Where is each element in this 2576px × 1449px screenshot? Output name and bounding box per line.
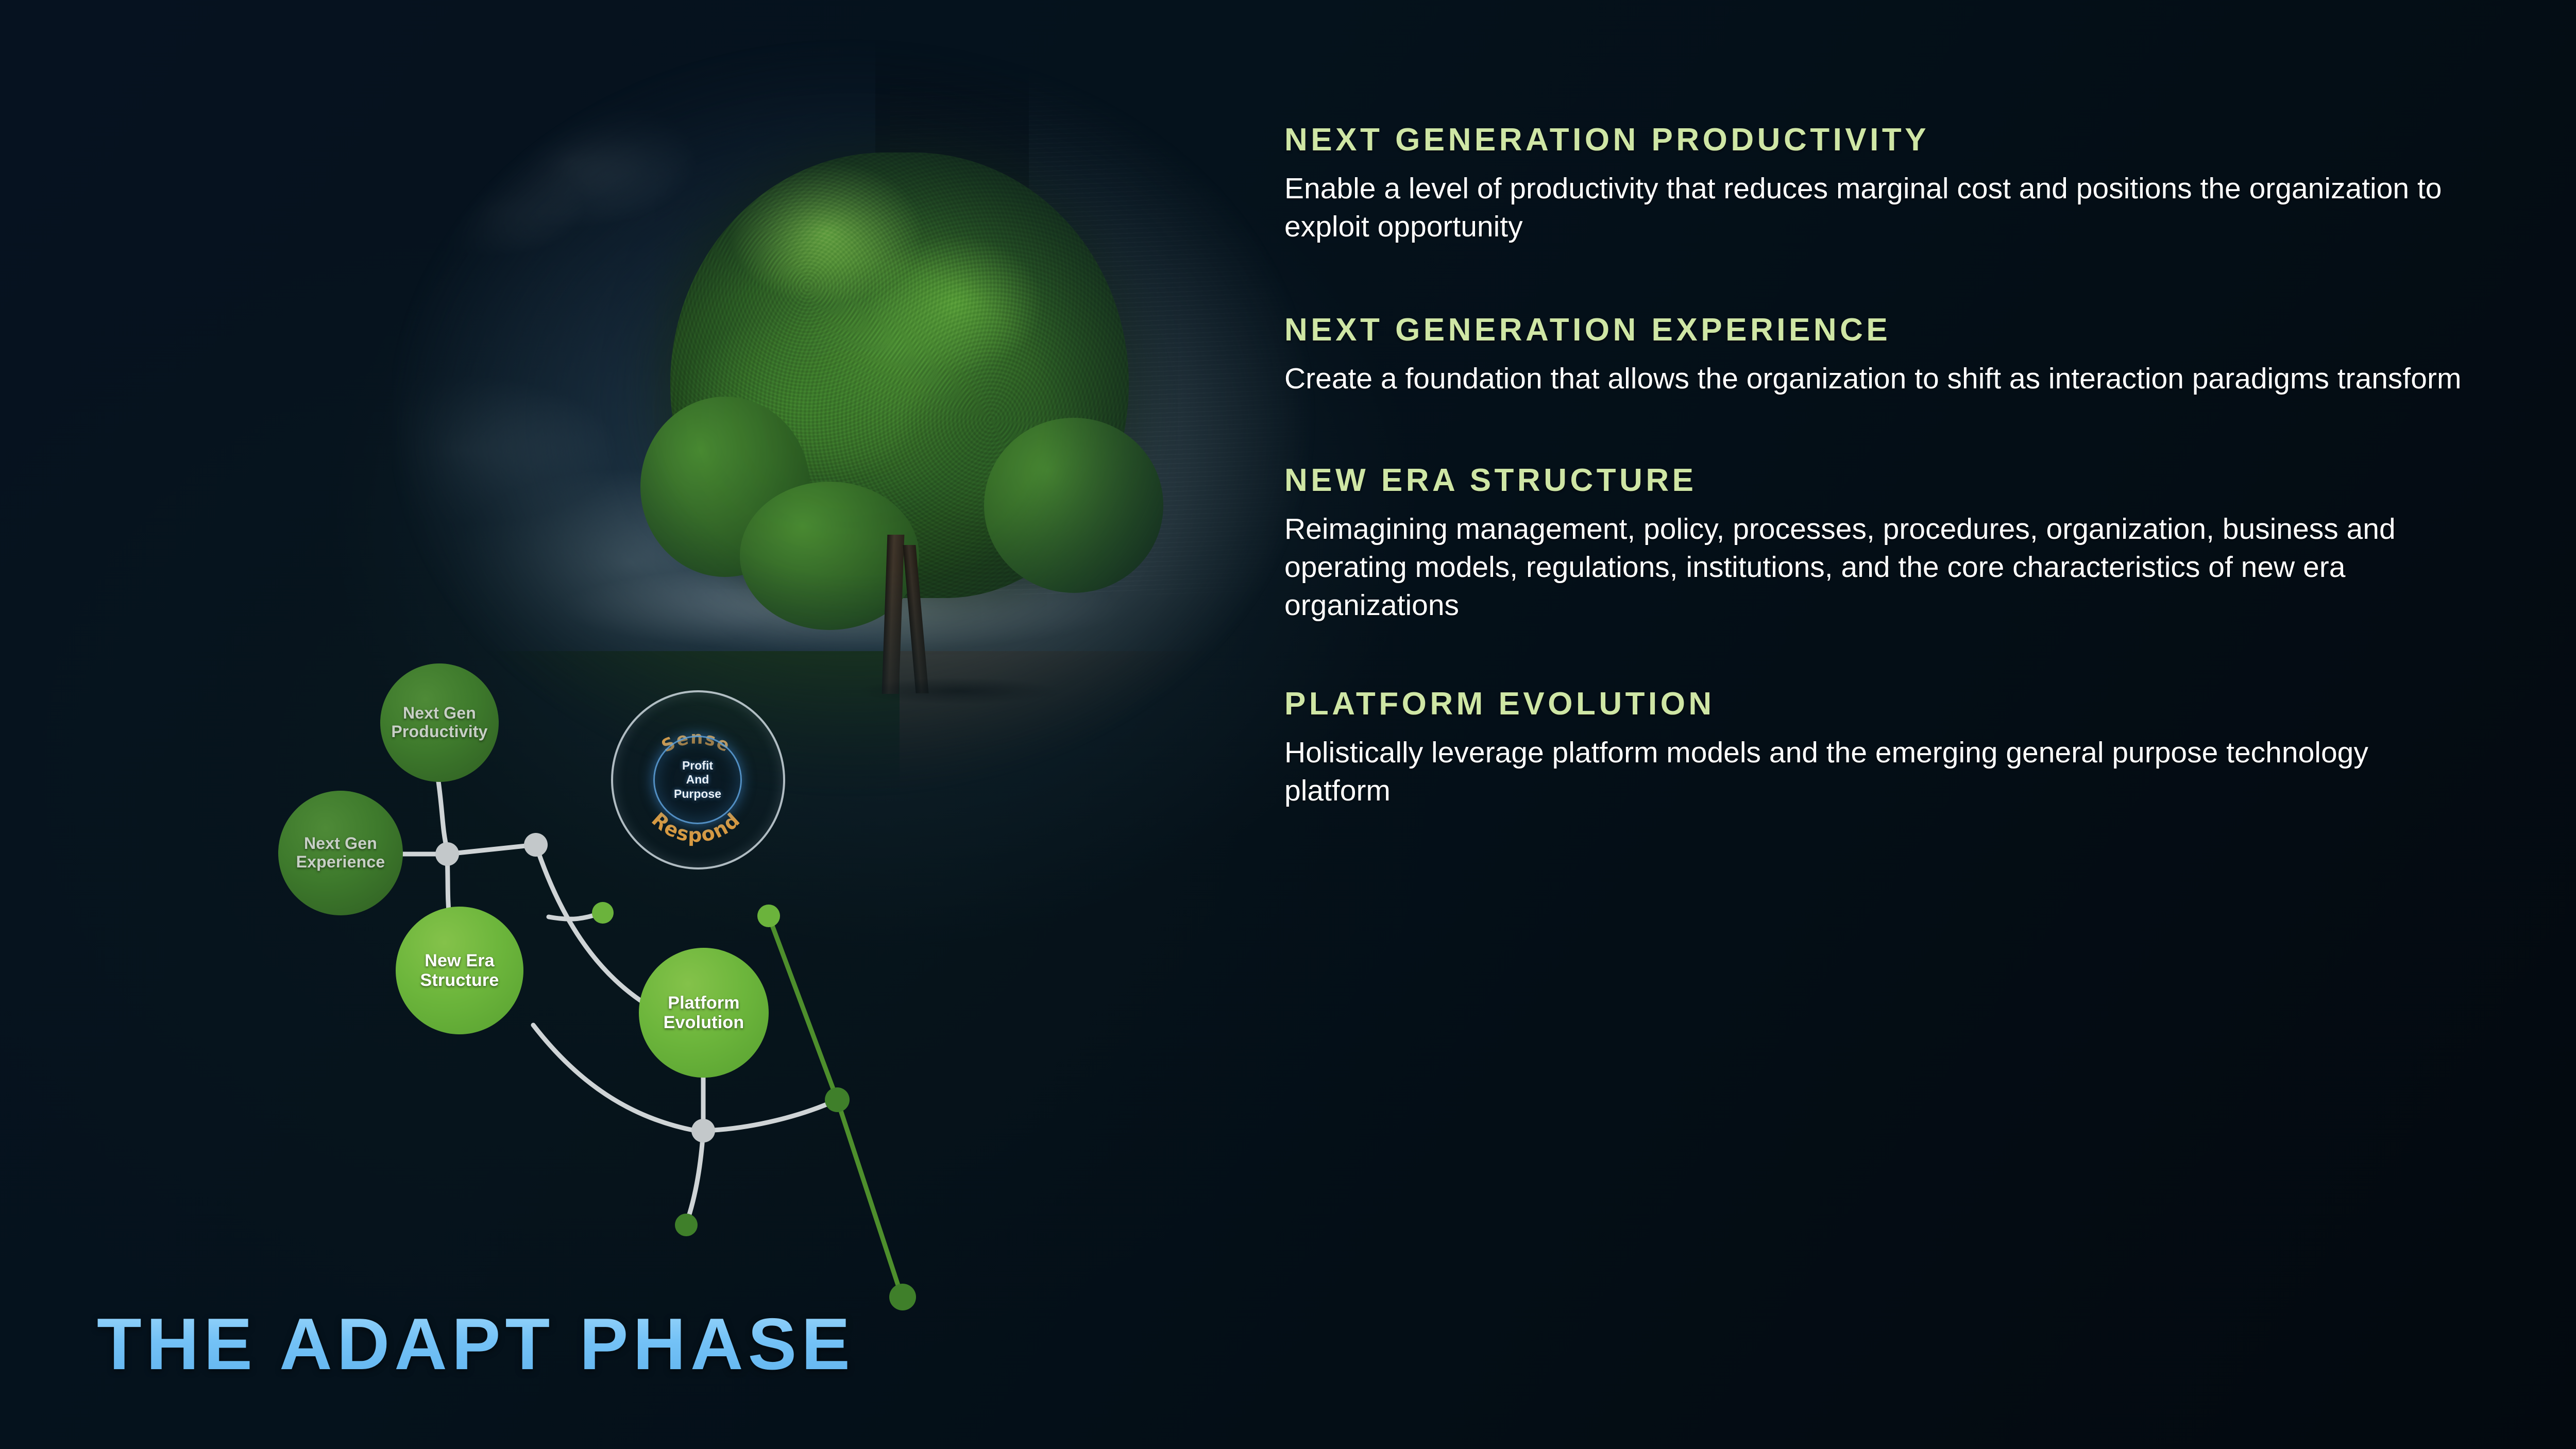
diagram-connectors <box>268 608 999 1329</box>
slide-title: THE ADAPT PHASE <box>97 1302 855 1387</box>
tree-canopy-lobe-right <box>984 418 1163 593</box>
section-body: Holistically leverage platform models an… <box>1284 734 2469 810</box>
core-line-3: Purpose <box>674 787 721 800</box>
section-title: PLATFORM EVOLUTION <box>1284 686 2469 722</box>
core-line-1: Profit <box>682 759 713 772</box>
section-title: NEXT GENERATION EXPERIENCE <box>1284 312 2469 348</box>
section-next-generation-experience: NEXT GENERATION EXPERIENCE Create a foun… <box>1284 312 2469 398</box>
network-diagram: Next Gen Productivity Next Gen Experienc… <box>268 608 999 1329</box>
section-spacer <box>1284 246 2469 312</box>
node-next-gen-productivity[interactable]: Next Gen Productivity <box>380 663 499 782</box>
section-spacer <box>1284 625 2469 686</box>
section-body: Reimagining management, policy, processe… <box>1284 510 2469 624</box>
profit-and-purpose-text: Profit And Purpose <box>674 759 721 800</box>
section-title: NEXT GENERATION PRODUCTIVITY <box>1284 122 2469 158</box>
node-label-line1: Next Gen <box>304 834 377 853</box>
sections-column: NEXT GENERATION PRODUCTIVITY Enable a le… <box>1284 122 2469 810</box>
tree-illustration <box>650 152 1148 683</box>
node-new-era-structure[interactable]: New Era Structure <box>396 907 523 1034</box>
node-label-line1: Platform <box>668 993 740 1013</box>
node-label-line2: Productivity <box>391 722 487 741</box>
profit-and-purpose-ring: Profit And Purpose <box>653 736 742 824</box>
node-label-line2: Evolution <box>664 1013 744 1032</box>
section-platform-evolution: PLATFORM EVOLUTION Holistically leverage… <box>1284 686 2469 810</box>
section-body: Enable a level of productivity that redu… <box>1284 169 2469 246</box>
node-platform-evolution[interactable]: Platform Evolution <box>639 948 769 1078</box>
node-label-line2: Experience <box>296 853 385 871</box>
section-spacer <box>1284 398 2469 462</box>
section-new-era-structure: NEW ERA STRUCTURE Reimagining management… <box>1284 462 2469 624</box>
node-label-line1: New Era <box>425 951 495 970</box>
node-label-line2: Structure <box>420 970 499 990</box>
section-next-generation-productivity: NEXT GENERATION PRODUCTIVITY Enable a le… <box>1284 122 2469 246</box>
node-next-gen-experience[interactable]: Next Gen Experience <box>278 791 403 915</box>
section-title: NEW ERA STRUCTURE <box>1284 462 2469 499</box>
slide-canvas: Next Gen Productivity Next Gen Experienc… <box>0 0 2576 1449</box>
section-body: Create a foundation that allows the orga… <box>1284 360 2469 398</box>
node-label-line1: Next Gen <box>403 704 476 722</box>
core-line-2: And <box>686 773 709 786</box>
